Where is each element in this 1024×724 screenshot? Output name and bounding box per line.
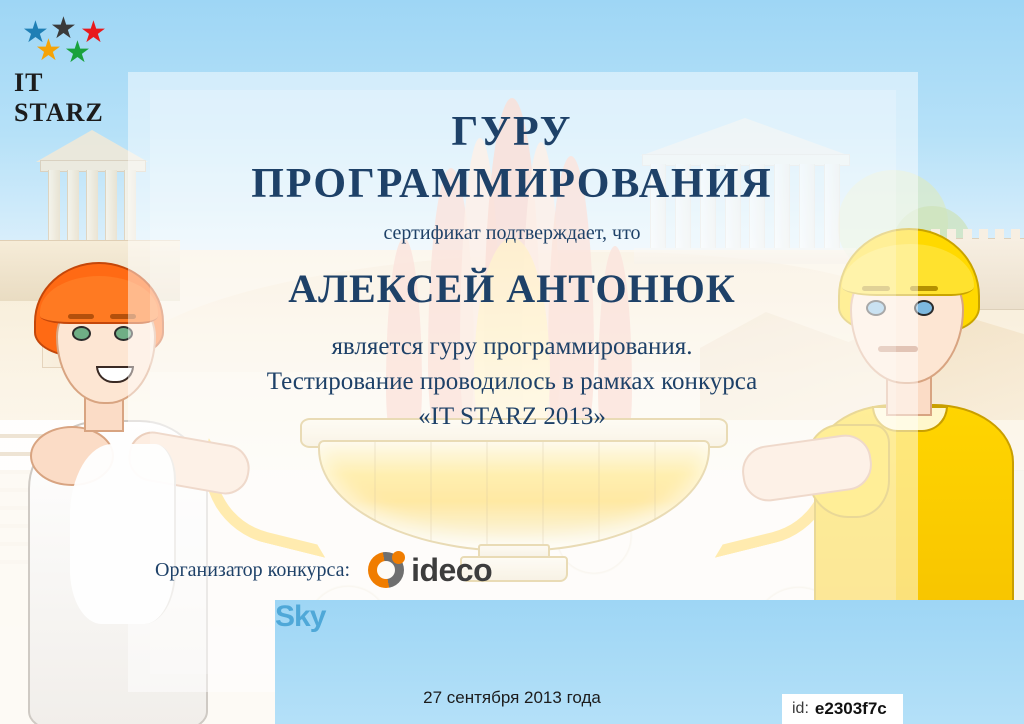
organizer-row: Организатор конкурса: ideco <box>155 548 575 592</box>
certificate-body-line1: является гуру программирования. <box>0 333 1024 361</box>
star-orange-icon: ★ <box>35 36 62 66</box>
certificate-title-line2: ПРОГРАММИРОВАНИЯ <box>0 160 1024 208</box>
it-starz-logo: ★ ★ ★ ★ ★ IT STARZ <box>14 14 124 100</box>
ideco-swoosh-icon <box>368 552 404 588</box>
ideco-logo: ideco <box>368 552 492 589</box>
id-label: id: <box>792 700 809 718</box>
id-value: e2303f7c <box>815 699 887 719</box>
certificate-body-line3: «IT STARZ 2013» <box>0 403 1024 431</box>
organizer-label: Организатор конкурса: <box>155 559 350 582</box>
stars-group: ★ ★ ★ ★ ★ <box>22 14 122 64</box>
partners-row: Партнеры: LINUX Главное в мире Linux FOR… <box>275 600 915 646</box>
certificate-body-line2: Тестирование проводилось в рамках конкур… <box>0 368 1024 396</box>
skydns-logo: SkyDNS <box>764 606 824 640</box>
star-green-icon: ★ <box>64 38 91 68</box>
certificate-subtitle: сертификат подтверждает, что <box>0 222 1024 245</box>
certificate-canvas: ★ ★ ★ ★ ★ IT STARZ ГУРУ ПРОГРАММИРОВАНИЯ… <box>0 0 1024 724</box>
recipient-name: АЛЕКСЕЙ АНТОНЮК <box>0 265 1024 312</box>
certificate-id-badge: id: e2303f7c <box>782 694 903 724</box>
ideco-wordmark: ideco <box>411 552 492 589</box>
certificate-title-line1: ГУРУ <box>0 108 1024 156</box>
